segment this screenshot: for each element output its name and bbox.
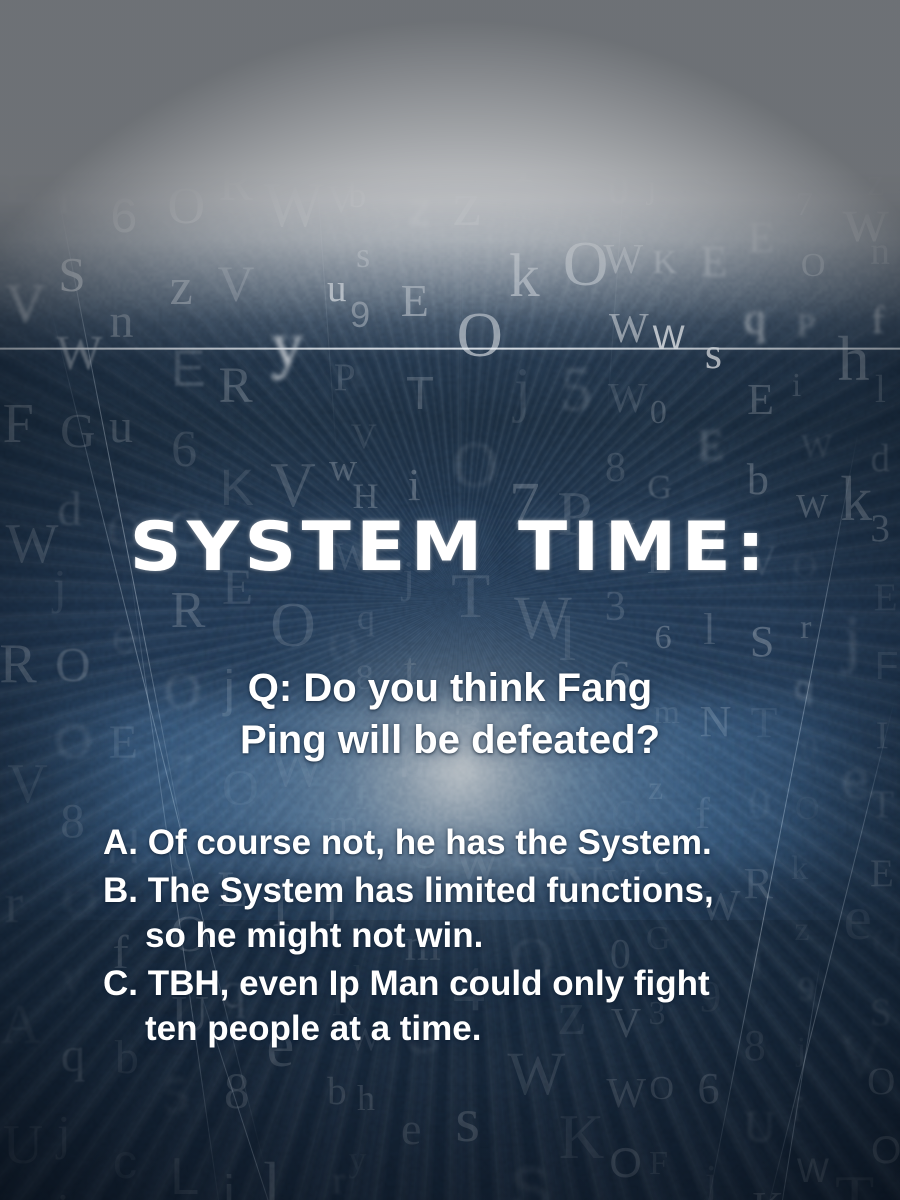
system-time-card: GyEVFWRVrAUjTlOOrSWGdjOO8Oyqjj4OP6nuOeEH… (0, 0, 900, 1200)
quiz-option-c-line-1: TBH, even Ip Man could only fight (148, 964, 710, 1003)
question-line-2: Ping will be defeated? (0, 714, 900, 766)
quiz-option-c-label: C. (103, 964, 138, 1003)
quiz-option-b-line-2: so he might not win. (103, 913, 843, 959)
quiz-option-a-label: A. (103, 823, 138, 862)
quiz-option-c[interactable]: C. TBH, even Ip Man could only fight ten… (103, 961, 843, 1052)
page-title: SYSTEM TIME: (0, 508, 900, 587)
quiz-option-b-label: B. (103, 871, 138, 910)
quiz-question: Q: Do you think Fang Ping will be defeat… (0, 662, 900, 766)
question-line-1: Q: Do you think Fang (0, 662, 900, 714)
quiz-option-c-line-2: ten people at a time. (103, 1006, 843, 1052)
quiz-option-a-line-1: Of course not, he has the System. (148, 823, 712, 862)
quiz-options-list: A. Of course not, he has the System. B. … (103, 820, 843, 1054)
quiz-option-a[interactable]: A. Of course not, he has the System. (103, 820, 843, 866)
quiz-option-b[interactable]: B. The System has limited functions, so … (103, 868, 843, 959)
quiz-option-b-line-1: The System has limited functions, (148, 871, 714, 910)
